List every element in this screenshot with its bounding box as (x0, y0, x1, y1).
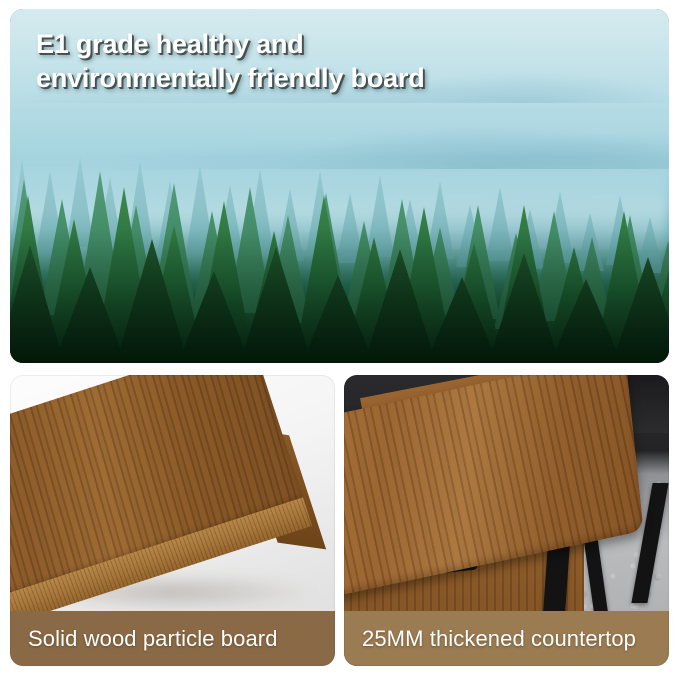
caption-solid-wood-particle-board: Solid wood particle board (10, 611, 335, 666)
hero-banner: E1 grade healthy and environmentally fri… (10, 9, 669, 363)
hero-headline: E1 grade healthy and environmentally fri… (36, 27, 656, 95)
feature-card-solid-wood-particle-board[interactable]: Solid wood particle board (10, 375, 335, 666)
feature-card-thickened-countertop[interactable]: 25MM thickened countertop (344, 375, 669, 666)
caption-thickened-countertop: 25MM thickened countertop (344, 611, 669, 666)
product-feature-collage: E1 grade healthy and environmentally fri… (0, 0, 679, 674)
